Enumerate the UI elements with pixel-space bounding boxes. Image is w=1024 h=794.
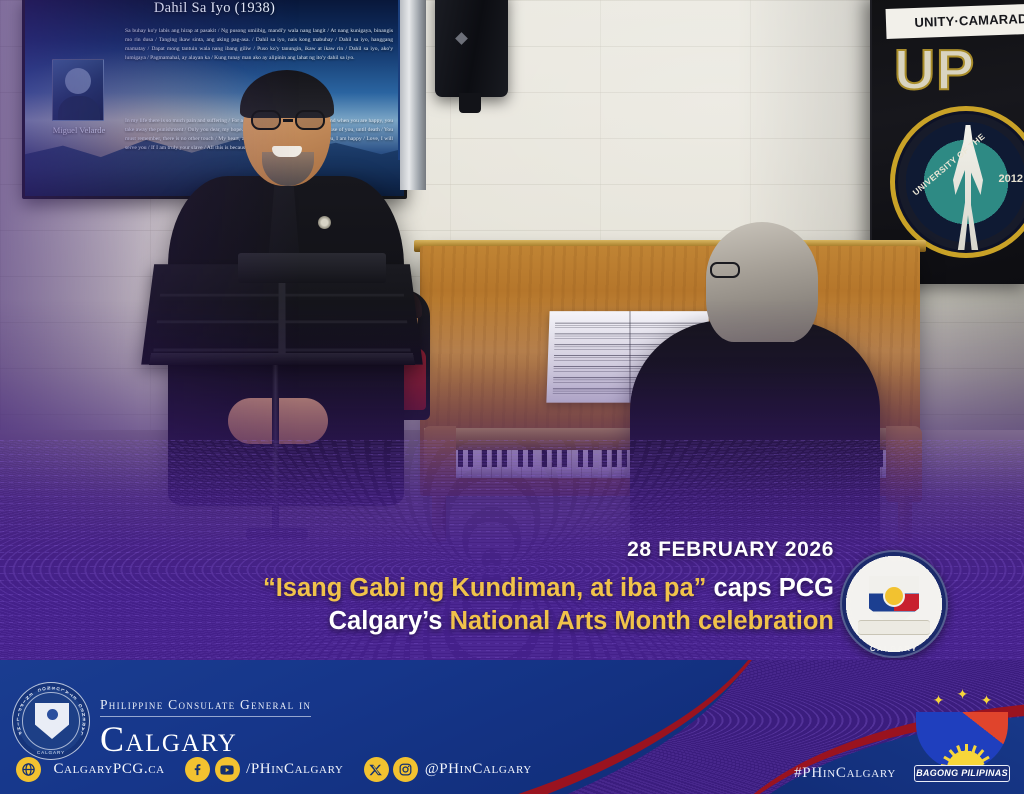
pcg-logo-city: CALGARY — [13, 750, 89, 755]
social-links-row: CalgaryPCG.ca /PHinCalgary — [16, 757, 656, 787]
pcg-seal-scroll — [858, 620, 930, 635]
wordmark-line-1: Philippine Consulate General in — [100, 697, 311, 717]
headline-calgarys: Calgary’s — [329, 607, 443, 635]
up-banner-top-text: UNITY·CAMARAD — [886, 3, 1024, 39]
hashtag-label: #PHinCalgary — [794, 765, 896, 782]
bagong-star-icon: ✦ — [932, 694, 945, 707]
speaker-logo-icon — [455, 32, 468, 45]
instagram-icon[interactable] — [393, 757, 418, 782]
footer-banner: PHILIPPINE CONSULATE GENERAL CALGARY Phi… — [0, 660, 1024, 794]
bagong-star-icon: ✦ — [980, 694, 993, 707]
bagong-label: BAGONG PILIPINAS — [914, 765, 1010, 782]
headline-title-gold: “Isang Gabi ng Kundiman, at iba pa” — [263, 574, 706, 602]
headline-caps-pcg: caps PCG — [714, 574, 834, 602]
wall-pole — [400, 0, 426, 190]
event-poster: Dahil Sa Iyo (1938) Miguel Velarde Sa bu… — [0, 0, 1024, 794]
wordmark-line-2: Calgary — [100, 721, 430, 759]
headline-arts-month: National Arts Month celebration — [450, 607, 834, 635]
pcg-seal-sun-icon — [885, 587, 903, 605]
x-instagram-handle[interactable]: @PHinCalgary — [425, 761, 532, 778]
bagong-pilipinas-logo: BAGONG PILIPINAS ✦✦✦ — [912, 688, 1012, 782]
facebook-icon[interactable] — [185, 757, 210, 782]
pianist-eyeglasses — [710, 262, 740, 278]
bagong-star-icon: ✦ — [956, 688, 969, 701]
up-banner-top-bar: UNITY·CAMARAD — [886, 3, 1024, 39]
pa-speaker — [435, 0, 508, 97]
headline-line-2: Calgary’s National Arts Month celebratio… — [0, 605, 834, 638]
x-twitter-icon[interactable] — [364, 757, 389, 782]
up-banner-acronym: UP — [894, 42, 975, 99]
facebook-youtube-handle[interactable]: /PHinCalgary — [246, 761, 343, 778]
pcg-seal-city: CALGARY — [840, 644, 948, 653]
singer-lapel-pin — [318, 216, 331, 229]
bagong-bowl-graphic — [916, 712, 1008, 770]
up-seal-year: 2012 — [999, 173, 1023, 185]
pcg-round-seal: KONSULADO PANLAHAT NG PILIPINAS CALGARY — [840, 550, 948, 658]
youtube-icon[interactable] — [215, 757, 240, 782]
up-banner-seal: UNIVERSITY OF THE 2012 — [890, 106, 1024, 258]
headline-line-1: “Isang Gabi ng Kundiman, at iba pa” caps… — [0, 572, 834, 605]
website-label[interactable]: CalgaryPCG.ca — [53, 761, 164, 778]
globe-icon[interactable] — [16, 757, 41, 782]
pcg-calgary-logo: PHILIPPINE CONSULATE GENERAL CALGARY — [12, 682, 90, 760]
pcg-wordmark: Philippine Consulate General in Calgary — [100, 696, 430, 759]
